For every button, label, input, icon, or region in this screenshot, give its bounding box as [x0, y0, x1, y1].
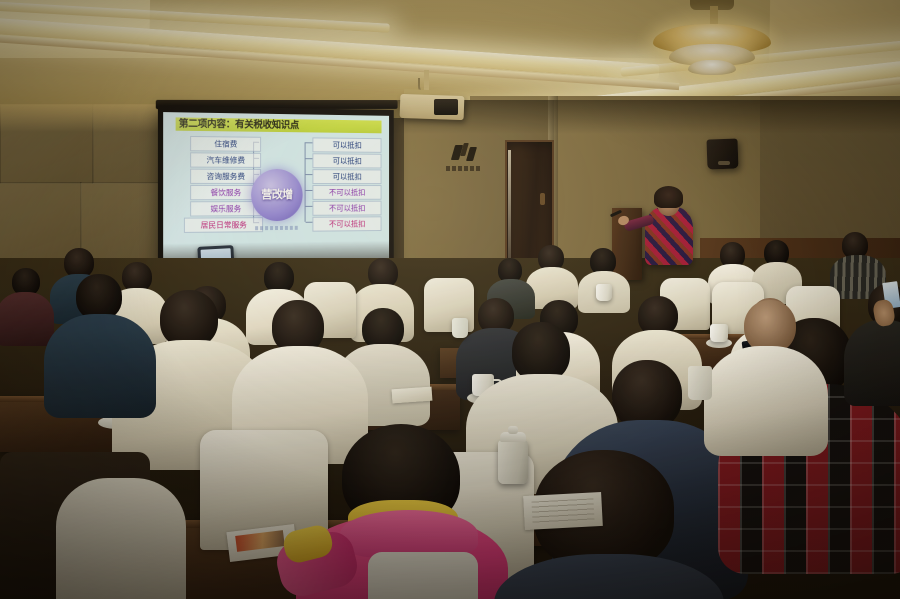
lidded-cup[interactable] [688, 366, 712, 400]
slide-left-item-6: 居民日常服务 [184, 217, 263, 233]
slide-center-label: 营改增 [251, 186, 303, 202]
foreground-person-shoulder [56, 478, 186, 599]
slide-center-caption [255, 226, 299, 230]
chandelier-tier-3 [688, 60, 736, 75]
slide-right-item-2: 可以抵扣 [312, 153, 381, 168]
presenter-hair [654, 186, 683, 208]
slide-connector-right [305, 142, 306, 222]
slide-title: 第二项内容：有关税收知识点 [179, 117, 383, 133]
company-logo-icon [449, 143, 479, 167]
projection-screen: 第二项内容：有关税收知识点 住宿费 汽车维修费 咨询服务费 餐饮服务 娱乐服务 … [158, 106, 394, 270]
projector-lens [434, 99, 458, 115]
hoodie-white-back [368, 552, 478, 599]
slide-right-item-4: 不可以抵扣 [312, 185, 381, 200]
slide-center-circle: 营改增 [251, 169, 303, 221]
slide-surface: 第二项内容：有关税收知识点 住宿费 汽车维修费 咨询服务费 餐饮服务 娱乐服务 … [163, 112, 389, 266]
hoodie-hood [340, 510, 478, 558]
notepad[interactable] [392, 387, 433, 404]
door-handle[interactable] [540, 193, 545, 205]
door-light-gap [508, 150, 511, 270]
slide-right-item-6: 不可以抵扣 [312, 216, 381, 231]
cup-knob [508, 426, 518, 434]
coffee-cup[interactable] [596, 284, 612, 301]
slide-left-item-3: 咨询服务费 [190, 169, 261, 184]
company-logo-text [446, 166, 482, 171]
lidded-cup[interactable] [498, 440, 528, 484]
slide-right-item-1: 可以抵扣 [312, 137, 381, 152]
slide-left-item-5: 娱乐服务 [190, 201, 261, 217]
speaker-vent [718, 161, 730, 165]
slide-left-item-1: 住宿费 [190, 136, 261, 152]
slide-left-item-2: 汽车维修费 [190, 152, 261, 168]
notepad-lines [531, 498, 594, 523]
coffee-cup[interactable] [710, 324, 728, 342]
slide-right-item-3: 可以抵扣 [312, 169, 381, 184]
water-glass[interactable] [452, 318, 468, 338]
slide-right-item-5: 不可以抵扣 [312, 201, 381, 216]
crystal-chandelier-icon [652, 6, 772, 80]
seminar-room-photo: 第二项内容：有关税收知识点 住宿费 汽车维修费 咨询服务费 餐饮服务 娱乐服务 … [0, 0, 900, 599]
